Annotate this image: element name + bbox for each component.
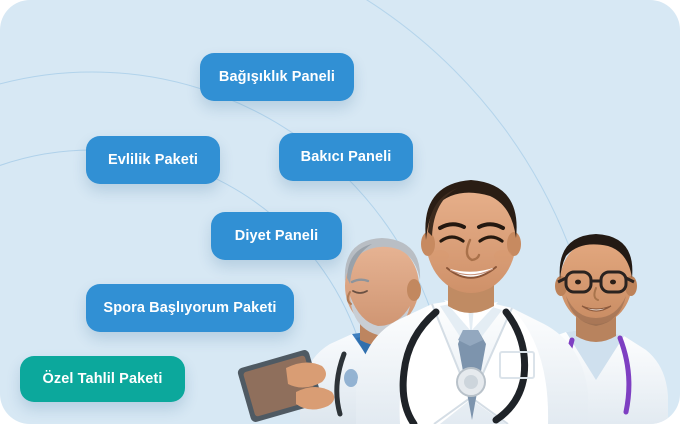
glasses-doctor bbox=[505, 234, 668, 424]
pill-ozel-tahlil-paketi[interactable]: Özel Tahlil Paketi bbox=[20, 356, 185, 402]
pill-label: Spora Başlıyorum Paketi bbox=[103, 300, 276, 316]
pill-label: Bakıcı Paneli bbox=[301, 149, 392, 165]
center-doctor bbox=[356, 180, 588, 424]
pill-evlilik-paketi[interactable]: Evlilik Paketi bbox=[86, 136, 220, 184]
hero-banner: Bağışıklık Paneli Evlilik Paketi Bakıcı … bbox=[0, 0, 680, 424]
pill-label: Bağışıklık Paneli bbox=[219, 69, 335, 85]
pill-bagisiklik-paneli[interactable]: Bağışıklık Paneli bbox=[200, 53, 354, 101]
stethoscope-purple bbox=[565, 338, 628, 416]
pill-diyet-paneli[interactable]: Diyet Paneli bbox=[211, 212, 342, 260]
pill-spora-basliyorum-paketi[interactable]: Spora Başlıyorum Paketi bbox=[86, 284, 294, 332]
eyeglasses-icon bbox=[558, 272, 634, 292]
stethoscope-black bbox=[403, 312, 525, 424]
pill-label: Özel Tahlil Paketi bbox=[43, 371, 163, 387]
tablet bbox=[237, 349, 324, 423]
pill-label: Diyet Paneli bbox=[235, 228, 318, 244]
pill-bakici-paneli[interactable]: Bakıcı Paneli bbox=[279, 133, 413, 181]
pill-label: Evlilik Paketi bbox=[108, 152, 198, 168]
